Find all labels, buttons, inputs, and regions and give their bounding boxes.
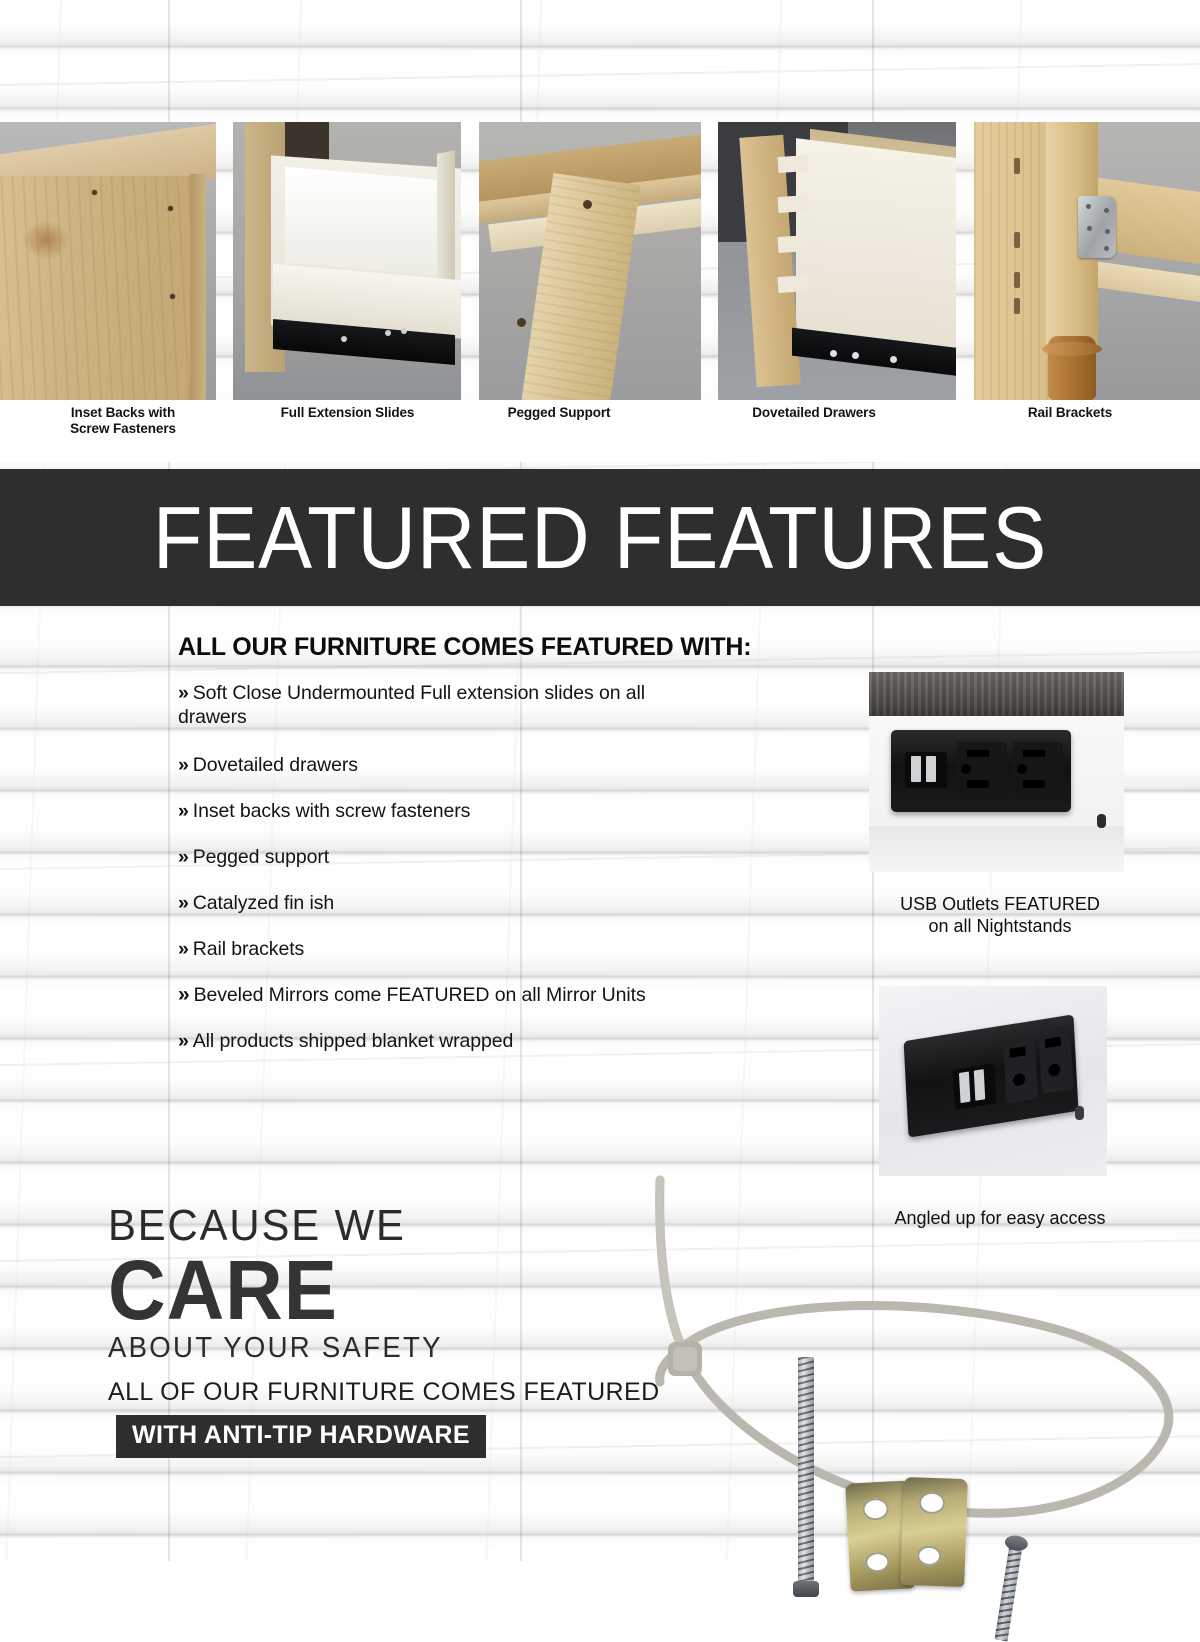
list-item: »Beveled Mirrors come FEATURED on all Mi…	[178, 983, 698, 1007]
safety-line-3: ABOUT YOUR SAFETY	[108, 1331, 507, 1365]
photo-dovetailed-drawers	[718, 122, 956, 400]
features-heading: ALL OUR FURNITURE COMES FEATURED WITH:	[178, 633, 751, 662]
bullet-marker-icon: »	[178, 938, 189, 960]
photo-inset-backs	[0, 122, 216, 400]
bullet-marker-icon: »	[178, 1030, 189, 1052]
bullet-marker-icon: »	[178, 682, 189, 704]
anti-tip-hardware-tag: WITH ANTI-TIP HARDWARE	[116, 1415, 486, 1458]
anti-tip-hardware-kit	[580, 1160, 1200, 1560]
safety-block: BECAUSE WE CARE ABOUT YOUR SAFETY ALL OF…	[108, 1203, 528, 1365]
features-list: »Soft Close Undermounted Full extension …	[178, 681, 698, 1075]
bullet-marker-icon: »	[178, 846, 189, 868]
featured-features-banner: FEATURED FEATURES	[0, 469, 1200, 606]
anti-tip-bracket-icon	[900, 1477, 968, 1587]
list-item: »Catalyzed fin ish	[178, 891, 698, 915]
list-item: »Inset backs with screw fasteners	[178, 799, 698, 823]
long-screw-icon	[798, 1357, 814, 1585]
caption-inset-backs: Inset Backs with Screw Fasteners	[28, 405, 218, 436]
caption-full-extension-slides: Full Extension Slides	[240, 405, 455, 421]
feature-photo-strip	[0, 122, 1200, 400]
list-item: »Dovetailed drawers	[178, 753, 698, 777]
bullet-marker-icon: »	[178, 754, 189, 776]
caption-rail-brackets: Rail Brackets	[960, 405, 1180, 421]
bullet-marker-icon: »	[178, 892, 189, 914]
list-item: »All products shipped blanket wrapped	[178, 1029, 698, 1053]
safety-line-care: CARE	[108, 1249, 507, 1331]
usb-outlet-nightstand-photo	[869, 672, 1124, 872]
bullet-marker-icon: »	[178, 983, 190, 1006]
bullet-marker-icon: »	[178, 800, 189, 822]
list-item: »Rail brackets	[178, 937, 698, 961]
photo-full-extension-slides	[233, 122, 461, 400]
list-item: »Soft Close Undermounted Full extension …	[178, 681, 698, 729]
photo-rail-brackets	[974, 122, 1200, 400]
usb-outlet-angled-photo	[879, 986, 1107, 1176]
caption-dovetailed-drawers: Dovetailed Drawers	[700, 405, 928, 421]
photo-pegged-support	[479, 122, 701, 400]
list-item: »Pegged support	[178, 845, 698, 869]
caption-usb-outlets: USB Outlets FEATURED on all Nightstands	[830, 893, 1170, 937]
banner-title: FEATURED FEATURES	[48, 469, 1152, 606]
caption-pegged-support: Pegged Support	[452, 405, 666, 421]
